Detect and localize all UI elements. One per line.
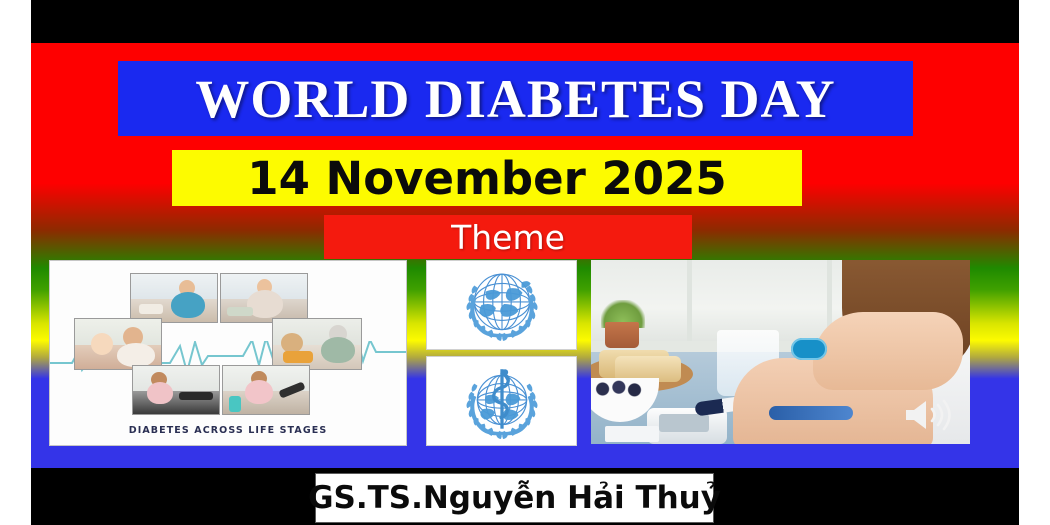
collage-photo-older-man-eating — [272, 318, 362, 370]
presenter-name: GS.TS.Nguyễn Hải Thuỷ — [308, 483, 721, 514]
organization-logos — [426, 260, 575, 444]
person-hand — [813, 312, 963, 390]
event-date: 14 November 2025 — [247, 156, 726, 201]
united-nations-logo-cell[interactable] — [426, 260, 577, 350]
collage-photo-mother-with-baby — [74, 318, 162, 370]
collage-photo-woman-on-treadmill — [132, 365, 220, 415]
blue-circle-test-strip — [791, 338, 827, 360]
collage-photo-young-woman-writing — [220, 273, 308, 323]
united-nations-emblem-icon — [436, 265, 568, 345]
slide-canvas: WORLD DIABETES DAY 14 November 2025 Them… — [0, 0, 1050, 525]
test-strip-pack — [605, 426, 659, 442]
title-banner: WORLD DIABETES DAY — [118, 61, 913, 136]
collage-photo-woman-exercise-bike — [222, 365, 310, 415]
who-logo-cell[interactable] — [426, 356, 577, 446]
collage-photo-teen-boy-studying — [130, 273, 218, 323]
speaker-volume-icon[interactable] — [902, 396, 954, 434]
blueberries — [591, 380, 649, 398]
glucose-meter-screen — [659, 414, 709, 432]
collage-caption: DIABETES ACROSS LIFE STAGES — [50, 425, 406, 436]
awareness-wristband — [769, 406, 853, 420]
life-stages-collage[interactable]: DIABETES ACROSS LIFE STAGES — [49, 260, 407, 446]
plant-pot — [605, 322, 639, 348]
theme-banner: Theme — [324, 215, 692, 259]
theme-label: Theme — [451, 221, 565, 254]
window-mullion — [687, 260, 692, 348]
world-health-organization-emblem-icon — [436, 361, 568, 441]
blood-glucose-testing-photo[interactable] — [591, 260, 970, 444]
presenter-name-box: GS.TS.Nguyễn Hải Thuỷ — [315, 473, 714, 523]
page-title: WORLD DIABETES DAY — [195, 72, 835, 126]
date-banner: 14 November 2025 — [172, 150, 802, 206]
